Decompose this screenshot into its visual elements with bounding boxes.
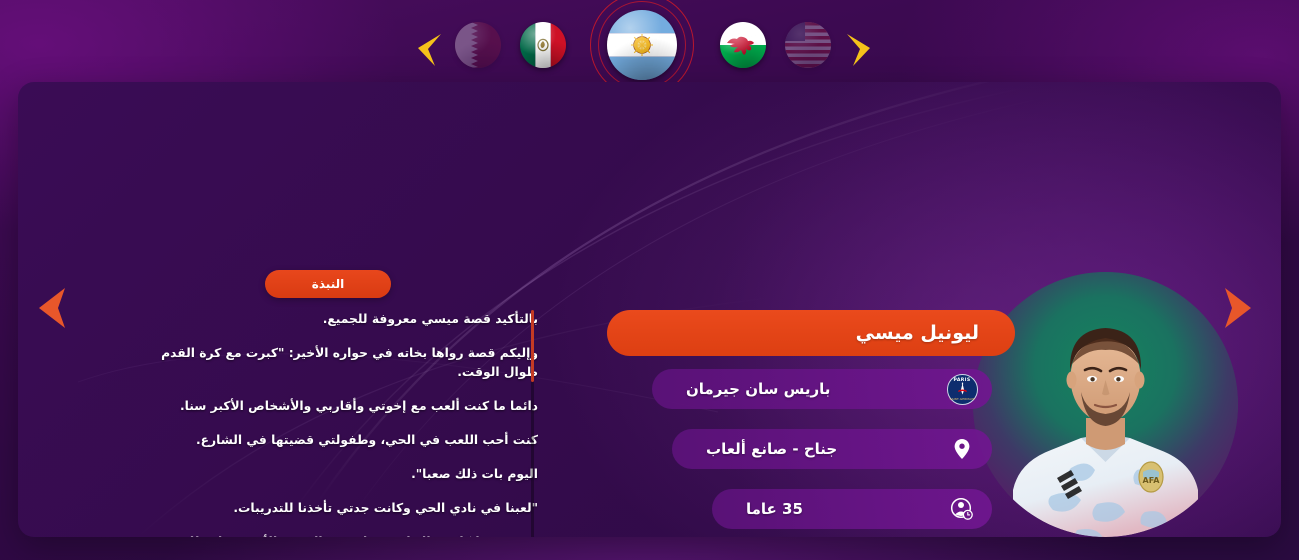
chevron-right-icon	[1220, 285, 1256, 331]
psg-badge-text: PARIS	[948, 378, 977, 383]
position-value: جناح - صانع ألعاب	[672, 440, 942, 458]
club-value: باريس سان جيرمان	[652, 380, 942, 398]
flag-carousel[interactable]	[0, 0, 1299, 92]
flag-icon-qatar	[455, 22, 501, 68]
bio-paragraph: بالتأكيد قصة ميسي معروفة للجميع.	[142, 310, 538, 329]
flag-item-mx[interactable]	[520, 22, 566, 68]
player-name-banner: ليونيل ميسي	[607, 310, 1015, 356]
carousel-prev-button[interactable]	[34, 285, 70, 331]
info-row-position: جناح - صانع ألعاب	[672, 429, 992, 469]
player-photo: AFA	[973, 272, 1238, 537]
bio-paragraph: اليوم بات ذلك صعبا".	[142, 465, 538, 484]
psg-club-badge-icon: PARIS SAINT-GERMAIN	[942, 369, 982, 409]
bio-text: بالتأكيد قصة ميسي معروفة للجميع.وإليكم ق…	[118, 310, 538, 537]
flag-icon-mexico	[520, 22, 566, 68]
flag-icon-argentina	[607, 10, 677, 80]
carousel-next-button[interactable]	[1220, 285, 1256, 331]
chevron-left-icon	[34, 285, 70, 331]
flag-item-ar-active[interactable]	[607, 10, 677, 80]
tab-bio[interactable]: النبذة	[265, 270, 391, 298]
flag-item-qa[interactable]	[455, 22, 501, 68]
age-value: 35 عاما	[712, 500, 942, 518]
flag-item-wl[interactable]	[720, 22, 766, 68]
psg-badge-subtext: SAINT-GERMAIN	[948, 397, 977, 401]
bio-scroll-area[interactable]: بالتأكيد قصة ميسي معروفة للجميع.وإليكم ق…	[118, 310, 538, 537]
info-row-age: 35 عاما	[712, 489, 992, 529]
header-band: الأرجنتين	[0, 0, 1299, 92]
flag-icon-wales	[720, 22, 766, 68]
flag-icon-usa	[785, 22, 831, 68]
info-row-club: PARIS SAINT-GERMAIN باريس سان جيرمان	[652, 369, 992, 409]
bio-paragraph: "لعبنا في نادي الحي وكانت جدتي تأخذنا لل…	[142, 499, 538, 518]
bio-paragraph: وإليكم قصة رواها بخاته في حواره الأخير: …	[142, 344, 538, 382]
bio-scrollbar-thumb[interactable]	[531, 310, 534, 382]
svg-text:AFA: AFA	[1143, 476, 1161, 485]
bio-scrollbar-track[interactable]	[531, 310, 534, 537]
location-pin-icon	[942, 429, 982, 469]
player-profile-panel: النبذة بالتأكيد قصة ميسي معروفة للجميع.و…	[18, 82, 1281, 537]
person-age-clock-icon	[942, 489, 982, 529]
bio-paragraph: كنت أحب اللعب في الحي، وطفولتي قضيتها في…	[142, 431, 538, 450]
bio-paragraph: في يوم ما كان هناك لاعب غاب عن الفريق ال…	[142, 533, 538, 537]
bio-paragraph: دائما ما كنت ألعب مع إخوتي وأقاربي والأش…	[142, 397, 538, 416]
flag-item-us[interactable]	[785, 22, 831, 68]
